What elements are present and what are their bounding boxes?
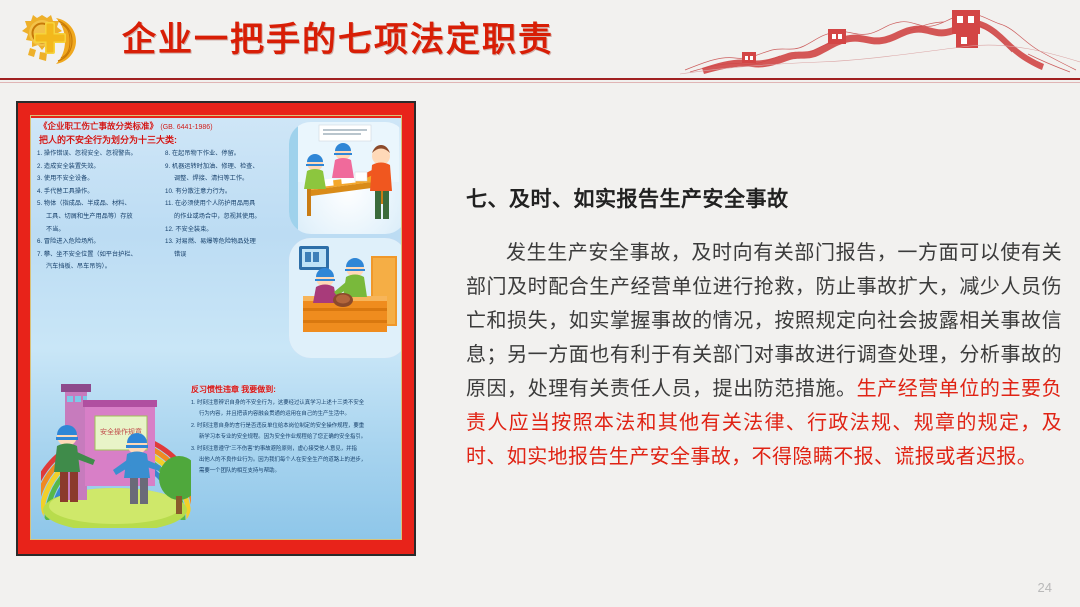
main-content: 七、及时、如实报告生产安全事故 发生生产安全事故，及时向有关部门报告，一方面可以…: [466, 186, 1062, 474]
pledge-item: 1. 时刻注意辨识自身的不安全行为，这要经过认真学习上述十三类不安全: [191, 398, 391, 408]
pledge-list: 1. 时刻注意辨识自身的不安全行为，这要经过认真学习上述十三类不安全 行为内容，…: [191, 398, 391, 478]
hazard-item: 13. 对易燃、易爆等危险物品处理: [165, 236, 287, 248]
poster-heading: 《企业职工伤亡事故分类标准》 (GB. 6441-1986) 把人的不安全行为划…: [39, 120, 289, 147]
hazard-item: 1. 操作错误、忽视安全、忽视警告。: [37, 148, 159, 160]
hazard-item: 9. 机器运转时加油、修理、检查、: [165, 161, 287, 173]
workers-inspecting-equipment-illustration: [289, 238, 402, 358]
poster-content: 《企业职工伤亡事故分类标准》 (GB. 6441-1986) 把人的不安全行为划…: [30, 115, 402, 540]
section-heading: 七、及时、如实报告生产安全事故: [466, 186, 1062, 214]
page-number: 24: [1038, 580, 1052, 595]
slide-header: 企业一把手的七项法定职责: [0, 0, 1080, 82]
hazard-item-continued: 不当。: [37, 224, 159, 236]
workers-at-bulletin-board-illustration: 安全操作规章: [41, 360, 191, 528]
pledge-item: 3. 时刻注意遵守“三不伤害”的事故避险原则，虚心接受他人意见，并指: [191, 444, 391, 454]
poster-red-frame: 《企业职工伤亡事故分类标准》 (GB. 6441-1986) 把人的不安全行为划…: [18, 103, 414, 554]
hazard-item: 5. 物体（指成品、半成品、材料、: [37, 198, 159, 210]
safety-poster-image: 《企业职工伤亡事故分类标准》 (GB. 6441-1986) 把人的不安全行为划…: [16, 101, 416, 556]
pledge-item-continued: 需要一个团队的相互支持与帮助。: [191, 466, 391, 476]
poster-top-band: [31, 116, 401, 118]
paragraph-plain-text: 发生生产安全事故，及时向有关部门报告，一方面可以使有关部门及时配合生产经营单位进…: [466, 242, 1062, 400]
workers-at-desk-illustration: [289, 122, 402, 234]
hazard-item-continued: 汽车挡板、吊车吊钩）。: [37, 261, 159, 273]
pledge-item: 2. 时刻注意自身的言行是否违反单位给本岗位制定的安全操作规程，要重: [191, 421, 391, 431]
hazard-list: 1. 操作错误、忽视安全、忽视警告。 2. 造成安全装置失效。 3. 使用不安全…: [37, 148, 289, 274]
hazard-list-right-column: 8. 在起吊物下作业、停留。 9. 机器运转时加油、修理、检查、 调整、焊接、清…: [165, 148, 287, 274]
pledge-item-continued: 新学习本专业的安全规程。因为安全作业规程给了您正确的安全指引。: [191, 432, 391, 442]
hazard-item-continued: 工具、切屑和生产用品等）存放: [37, 211, 159, 223]
hazard-item: 4. 手代替工具操作。: [37, 186, 159, 198]
header-divider-secondary: [0, 82, 1080, 83]
poster-subtitle: 把人的不安全行为划分为十三大类:: [39, 134, 289, 147]
hazard-item: 10. 有分散注意力行为。: [165, 186, 287, 198]
hazard-item-continued: 的作业或场合中，忽视其使用。: [165, 211, 287, 223]
hazard-item: 6. 冒险进入危险场所。: [37, 236, 159, 248]
slide-canvas: 企业一把手的七项法定职责: [0, 0, 1080, 607]
header-divider-primary: [0, 78, 1080, 80]
great-wall-illustration: [680, 0, 1080, 80]
poster-standard-code: (GB. 6441-1986): [160, 124, 212, 131]
page-title: 企业一把手的七项法定职责: [122, 18, 554, 62]
hazard-item: 3. 使用不安全设备。: [37, 173, 159, 185]
hazard-item-continued: 错误: [165, 249, 287, 261]
body-paragraph: 发生生产安全事故，及时向有关部门报告，一方面可以使有关部门及时配合生产经营单位进…: [466, 236, 1062, 474]
hazard-item: 12. 不安全装束。: [165, 224, 287, 236]
hazard-item-continued: 调整、焊接、清扫等工作。: [165, 173, 287, 185]
hazard-item: 7. 攀、坐不安全位置（如平台护栏、: [37, 249, 159, 261]
pledge-item-continued: 行为内容，并且把该内容融会贯通的运用在自己的生产生活中。: [191, 409, 391, 419]
hazard-item: 11. 在必须使用个人防护用品用具: [165, 198, 287, 210]
pledge-item-continued: 出他人的不良作业行为。因为我们每个人在安全生产的道路上的进步，: [191, 455, 391, 465]
safety-emblem-icon: [18, 12, 80, 70]
hazard-item: 8. 在起吊物下作业、停留。: [165, 148, 287, 160]
pledge-heading: 反习惯性违章 我要做到:: [191, 384, 276, 395]
poster-standard-title: 《企业职工伤亡事故分类标准》: [39, 121, 158, 131]
hazard-list-left-column: 1. 操作错误、忽视安全、忽视警告。 2. 造成安全装置失效。 3. 使用不安全…: [37, 148, 159, 274]
hazard-item: 2. 造成安全装置失效。: [37, 161, 159, 173]
